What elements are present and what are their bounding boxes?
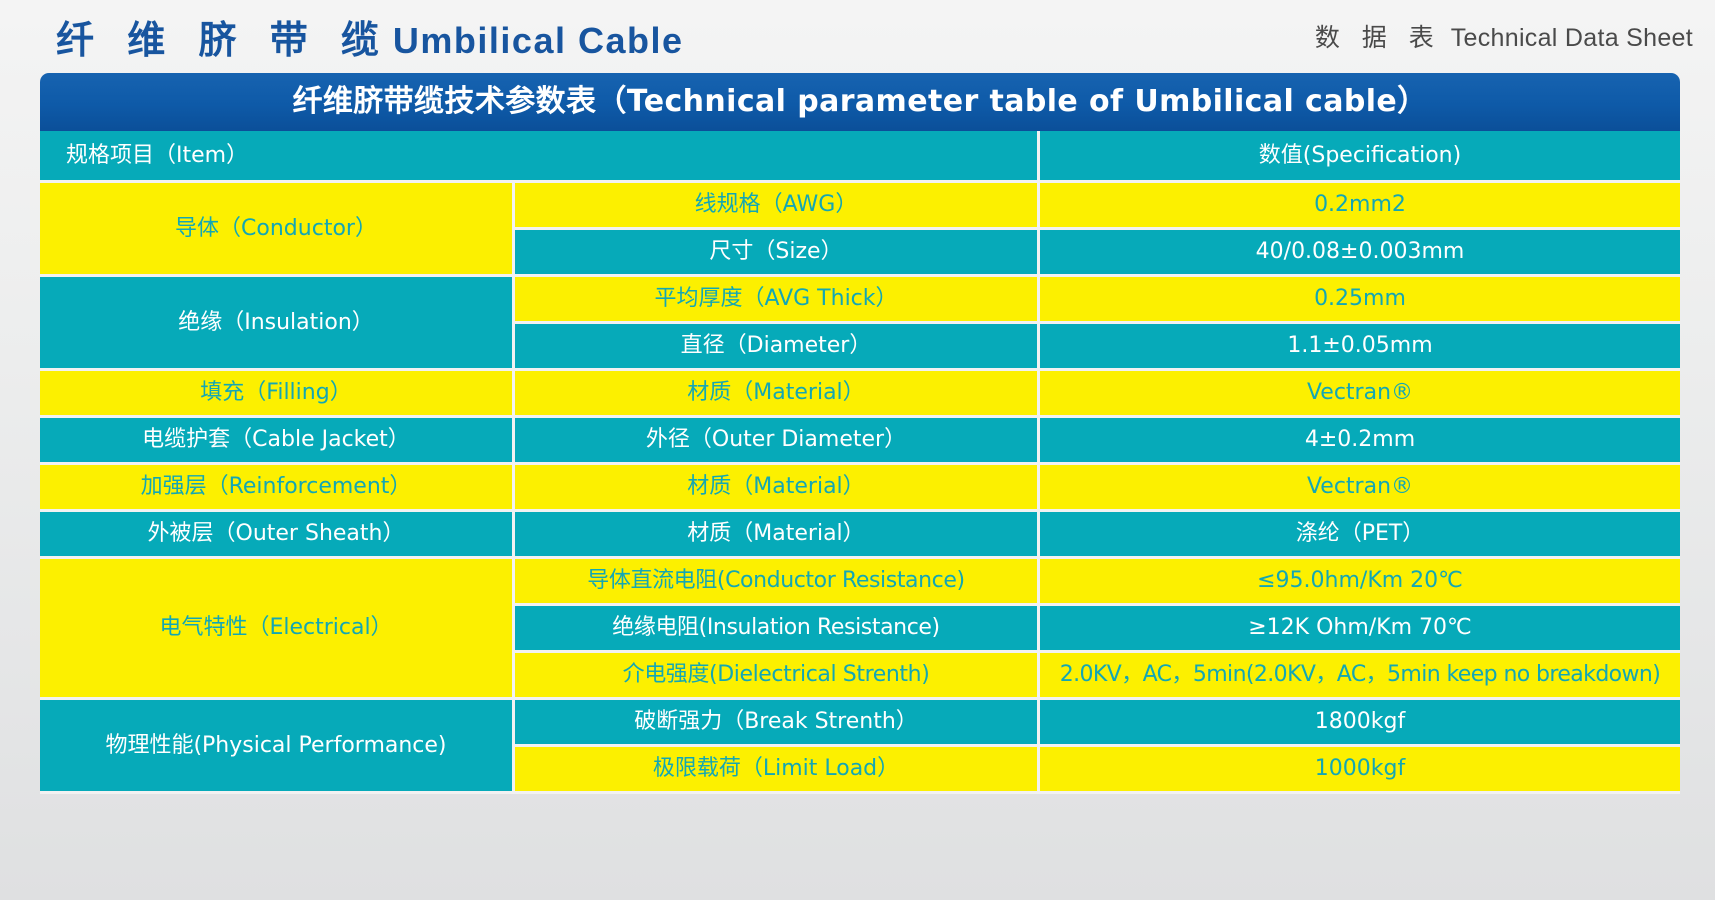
table-row: 物理性能(Physical Performance)破断强力（Break Str… xyxy=(40,700,1680,747)
cell-parameter: 尺寸（Size） xyxy=(515,230,1040,277)
table-row: 导体（Conductor）线规格（AWG）0.2mm2 xyxy=(40,183,1680,230)
cell-value: 1800kgf xyxy=(1040,700,1680,747)
cell-value: 4±0.2mm xyxy=(1040,418,1680,465)
spec-table: 规格项目（Item） 数值(Specification) 导体（Conducto… xyxy=(40,131,1680,794)
cell-group-name: 物理性能(Physical Performance) xyxy=(40,700,515,794)
sheet-label-cn: 数 据 表 xyxy=(1315,18,1441,54)
spec-table-body: 规格项目（Item） 数值(Specification) 导体（Conducto… xyxy=(40,131,1680,794)
sheet-label: 数 据 表 Technical Data Sheet xyxy=(1315,18,1693,54)
table-row: 电气特性（Electrical）导体直流电阻(Conductor Resista… xyxy=(40,559,1680,606)
cell-value: 1000kgf xyxy=(1040,747,1680,794)
cell-value: Vectran® xyxy=(1040,465,1680,512)
table-row: 填充（Filling）材质（Material）Vectran® xyxy=(40,371,1680,418)
spec-table-title: 纤维脐带缆技术参数表（Technical parameter table of … xyxy=(40,73,1680,131)
spec-table-container: 纤维脐带缆技术参数表（Technical parameter table of … xyxy=(40,73,1680,794)
table-row: 绝缘（Insulation）平均厚度（AVG Thick）0.25mm xyxy=(40,277,1680,324)
cell-group-name: 加强层（Reinforcement） xyxy=(40,465,515,512)
data-sheet-page: 纤 维 脐 带 缆 Umbilical Cable 数 据 表 Technica… xyxy=(0,0,1715,900)
cell-group-name: 导体（Conductor） xyxy=(40,183,515,277)
brand-title: 纤 维 脐 带 缆 Umbilical Cable xyxy=(56,9,684,64)
cell-parameter: 导体直流电阻(Conductor Resistance) xyxy=(515,559,1040,606)
cell-parameter: 外径（Outer Diameter） xyxy=(515,418,1040,465)
table-row: 外被层（Outer Sheath）材质（Material）涤纶（PET） xyxy=(40,512,1680,559)
table-header-row: 规格项目（Item） 数值(Specification) xyxy=(40,131,1680,183)
cell-value: 1.1±0.05mm xyxy=(1040,324,1680,371)
cell-value: 0.25mm xyxy=(1040,277,1680,324)
cell-parameter: 平均厚度（AVG Thick） xyxy=(515,277,1040,324)
cell-value: ≤95.0hm/Km 20℃ xyxy=(1040,559,1680,606)
cell-group-name: 电气特性（Electrical） xyxy=(40,559,515,700)
cell-parameter: 绝缘电阻(Insulation Resistance) xyxy=(515,606,1040,653)
cell-parameter: 破断强力（Break Strenth） xyxy=(515,700,1040,747)
cell-group-name: 绝缘（Insulation） xyxy=(40,277,515,371)
cell-parameter: 介电强度(Dielectrical Strenth) xyxy=(515,653,1040,700)
cell-parameter: 材质（Material） xyxy=(515,371,1040,418)
table-row: 电缆护套（Cable Jacket）外径（Outer Diameter）4±0.… xyxy=(40,418,1680,465)
column-header-spec: 数值(Specification) xyxy=(1040,131,1680,183)
cell-parameter: 直径（Diameter） xyxy=(515,324,1040,371)
brand-title-en: Umbilical Cable xyxy=(393,20,684,62)
column-header-item: 规格项目（Item） xyxy=(40,131,1040,183)
cell-value: 涤纶（PET） xyxy=(1040,512,1680,559)
cell-value: 40/0.08±0.003mm xyxy=(1040,230,1680,277)
table-row: 加强层（Reinforcement）材质（Material）Vectran® xyxy=(40,465,1680,512)
cell-value: 2.0KV，AC，5min(2.0KV，AC，5min keep no brea… xyxy=(1040,653,1680,700)
cell-group-name: 外被层（Outer Sheath） xyxy=(40,512,515,559)
cell-parameter: 线规格（AWG） xyxy=(515,183,1040,230)
cell-parameter: 极限载荷（Limit Load） xyxy=(515,747,1040,794)
page-header: 纤 维 脐 带 缆 Umbilical Cable 数 据 表 Technica… xyxy=(0,0,1715,72)
cell-group-name: 填充（Filling） xyxy=(40,371,515,418)
cell-value: Vectran® xyxy=(1040,371,1680,418)
cell-parameter: 材质（Material） xyxy=(515,512,1040,559)
cell-value: 0.2mm2 xyxy=(1040,183,1680,230)
cell-value: ≥12K Ohm/Km 70℃ xyxy=(1040,606,1680,653)
cell-group-name: 电缆护套（Cable Jacket） xyxy=(40,418,515,465)
cell-parameter: 材质（Material） xyxy=(515,465,1040,512)
sheet-label-en: Technical Data Sheet xyxy=(1451,24,1693,53)
brand-title-cn: 纤 维 脐 带 缆 xyxy=(56,9,389,64)
